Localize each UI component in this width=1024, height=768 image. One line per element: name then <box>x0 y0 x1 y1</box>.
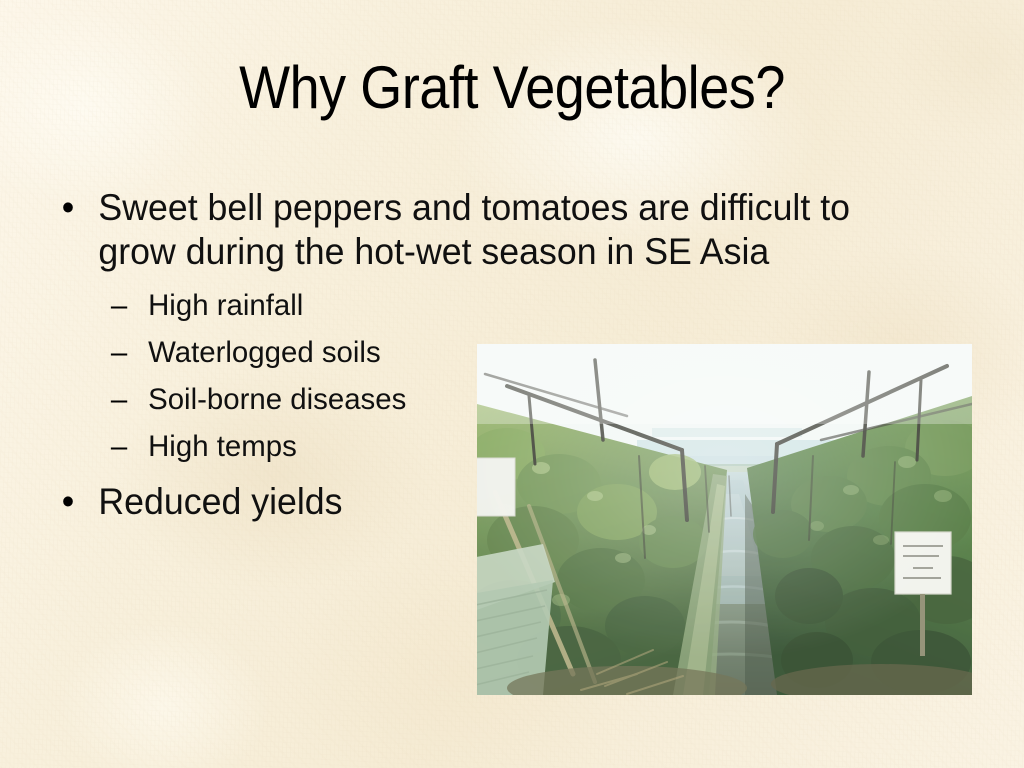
flooded-field-illustration <box>477 344 972 695</box>
dash-bullet-icon: – <box>111 381 127 419</box>
dash-bullet-icon: – <box>111 428 127 466</box>
flooded-vegetable-field-photo <box>477 344 972 695</box>
bullet-text: High rainfall <box>148 287 941 325</box>
bullet-item-level1: • Sweet bell peppers and tomatoes are di… <box>54 186 927 275</box>
bullet-text: Sweet bell peppers and tomatoes are diff… <box>98 186 927 275</box>
round-bullet-icon: • <box>62 480 75 524</box>
slide-canvas: Why Graft Vegetables? • Sweet bell peppe… <box>0 0 1024 768</box>
dash-bullet-icon: – <box>111 287 127 325</box>
bullet-item-level2: – High rainfall <box>54 287 941 325</box>
slide-title: Why Graft Vegetables? <box>105 56 919 119</box>
round-bullet-icon: • <box>62 186 75 230</box>
dash-bullet-icon: – <box>111 334 127 372</box>
